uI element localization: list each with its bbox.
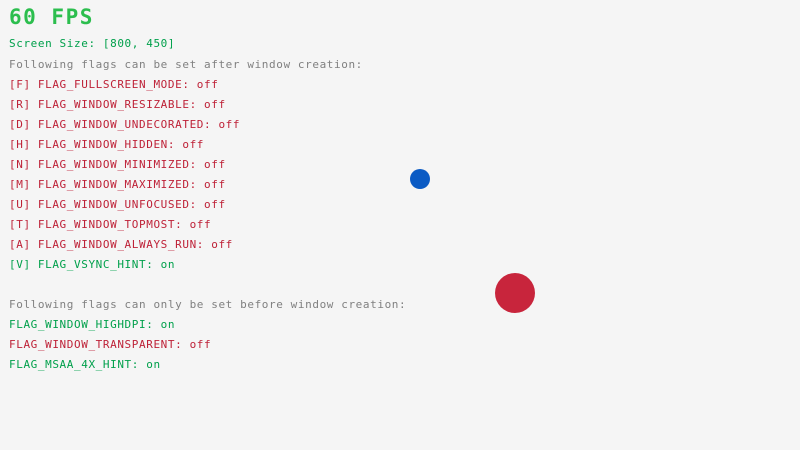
flag-row-flag-window-maximized[interactable]: [M] FLAG_WINDOW_MAXIMIZED: off <box>9 179 226 191</box>
flag-row-flag-window-unfocused[interactable]: [U] FLAG_WINDOW_UNFOCUSED: off <box>9 199 226 211</box>
flag-row-flag-window-transparent[interactable]: FLAG_WINDOW_TRANSPARENT: off <box>9 339 211 351</box>
fps-counter: 60 FPS <box>9 6 94 28</box>
blue-circle-shape <box>410 169 430 189</box>
flag-row-flag-window-hidden[interactable]: [H] FLAG_WINDOW_HIDDEN: off <box>9 139 204 151</box>
flag-row-flag-msaa-4x-hint[interactable]: FLAG_MSAA_4X_HINT: on <box>9 359 161 371</box>
flag-row-flag-window-topmost[interactable]: [T] FLAG_WINDOW_TOPMOST: off <box>9 219 211 231</box>
before-creation-section-header: Following flags can only be set before w… <box>9 299 406 311</box>
flag-row-flag-window-minimized[interactable]: [N] FLAG_WINDOW_MINIMIZED: off <box>9 159 226 171</box>
after-creation-section-header: Following flags can be set after window … <box>9 59 363 71</box>
flag-row-flag-window-always-run[interactable]: [A] FLAG_WINDOW_ALWAYS_RUN: off <box>9 239 233 251</box>
flag-row-flag-window-undecorated[interactable]: [D] FLAG_WINDOW_UNDECORATED: off <box>9 119 240 131</box>
screen-size-label: Screen Size: [800, 450] <box>9 38 175 50</box>
flag-row-flag-window-highdpi[interactable]: FLAG_WINDOW_HIGHDPI: on <box>9 319 175 331</box>
raylib-window-flags-canvas: 60 FPS Screen Size: [800, 450] Following… <box>0 0 800 450</box>
flag-row-flag-window-resizable[interactable]: [R] FLAG_WINDOW_RESIZABLE: off <box>9 99 226 111</box>
flag-row-flag-vsync-hint[interactable]: [V] FLAG_VSYNC_HINT: on <box>9 259 175 271</box>
red-circle-shape <box>495 273 535 313</box>
flag-row-flag-fullscreen-mode[interactable]: [F] FLAG_FULLSCREEN_MODE: off <box>9 79 218 91</box>
